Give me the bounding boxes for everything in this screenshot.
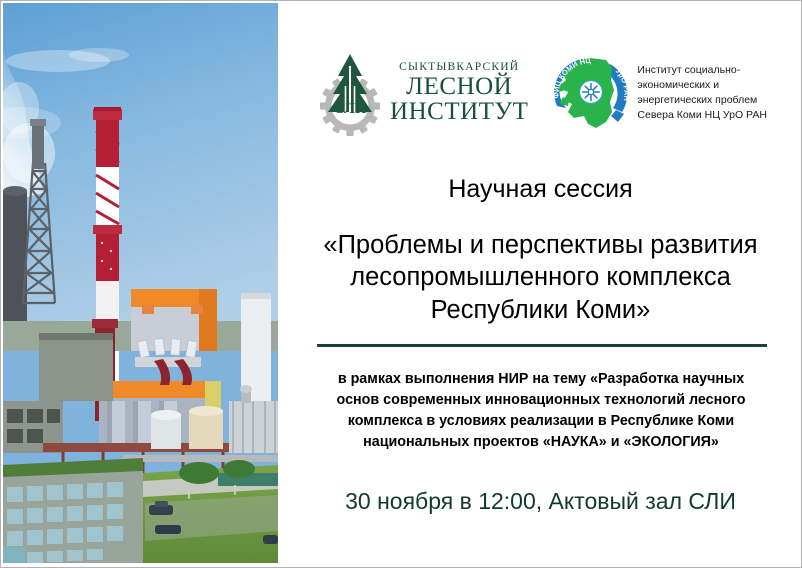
event-datetime-venue: 30 ноября в 12:00, Актовый зал СЛИ (280, 488, 801, 515)
industrial-plant-photo (3, 3, 278, 563)
sli-monogram: СЛИ (333, 101, 367, 117)
komi-institute-name: Институт социально- экономических и энер… (637, 63, 767, 123)
presentation-slide: СЛИ СЫКТЫВКАРСКИЙ ЛЕСНОЙ ИНСТИТУТ (0, 0, 802, 568)
project-description-line3: комплекса в условиях реализации в Респуб… (308, 411, 774, 432)
sli-logo: СЛИ СЫКТЫВКАРСКИЙ ЛЕСНОЙ ИНСТИТУТ (314, 50, 528, 136)
sli-wordmark-line3: ИНСТИТУТ (390, 99, 528, 124)
komi-institute-line3: энергетических проблем (637, 93, 767, 108)
photo-illustration (3, 3, 278, 563)
komi-institute-line2: экономических и (637, 78, 767, 93)
komi-institute-line4: Севера Коми НЦ УрО РАН (637, 108, 767, 123)
sli-wordmark: СЫКТЫВКАРСКИЙ ЛЕСНОЙ ИНСТИТУТ (390, 62, 528, 125)
session-kicker: Научная сессия (280, 175, 801, 204)
project-description: в рамках выполнения НИР на тему «Разрабо… (308, 369, 774, 454)
slide-content: СЛИ СЫКТЫВКАРСКИЙ ЛЕСНОЙ ИНСТИТУТ (280, 1, 801, 567)
komi-institute-line1: Институт социально- (637, 63, 767, 78)
komi-nc-emblem-icon: ФИЦ КОМИ НЦ УрО РАН (550, 50, 628, 136)
page-title-line3: Республики Коми» (290, 294, 791, 326)
komi-nc-logo: ФИЦ КОМИ НЦ УрО РАН Институт социально- … (550, 50, 767, 136)
page-title: «Проблемы и перспективы развития лесопро… (290, 229, 791, 326)
project-description-line1: в рамках выполнения НИР на тему «Разрабо… (308, 369, 774, 390)
sli-emblem-icon: СЛИ (314, 50, 386, 136)
page-title-line1: «Проблемы и перспективы развития (290, 229, 791, 261)
logo-band: СЛИ СЫКТЫВКАРСКИЙ ЛЕСНОЙ ИНСТИТУТ (280, 37, 801, 149)
page-title-line2: лесопромышленного комплекса (290, 261, 791, 293)
sli-wordmark-line2: ЛЕСНОЙ (390, 74, 528, 99)
title-divider (317, 344, 767, 347)
sli-wordmark-line1: СЫКТЫВКАРСКИЙ (390, 62, 528, 74)
project-description-line4: национальных проектов «НАУКА» и «ЭКОЛОГИ… (308, 432, 774, 453)
project-description-line2: основ современных инновационных технолог… (308, 390, 774, 411)
